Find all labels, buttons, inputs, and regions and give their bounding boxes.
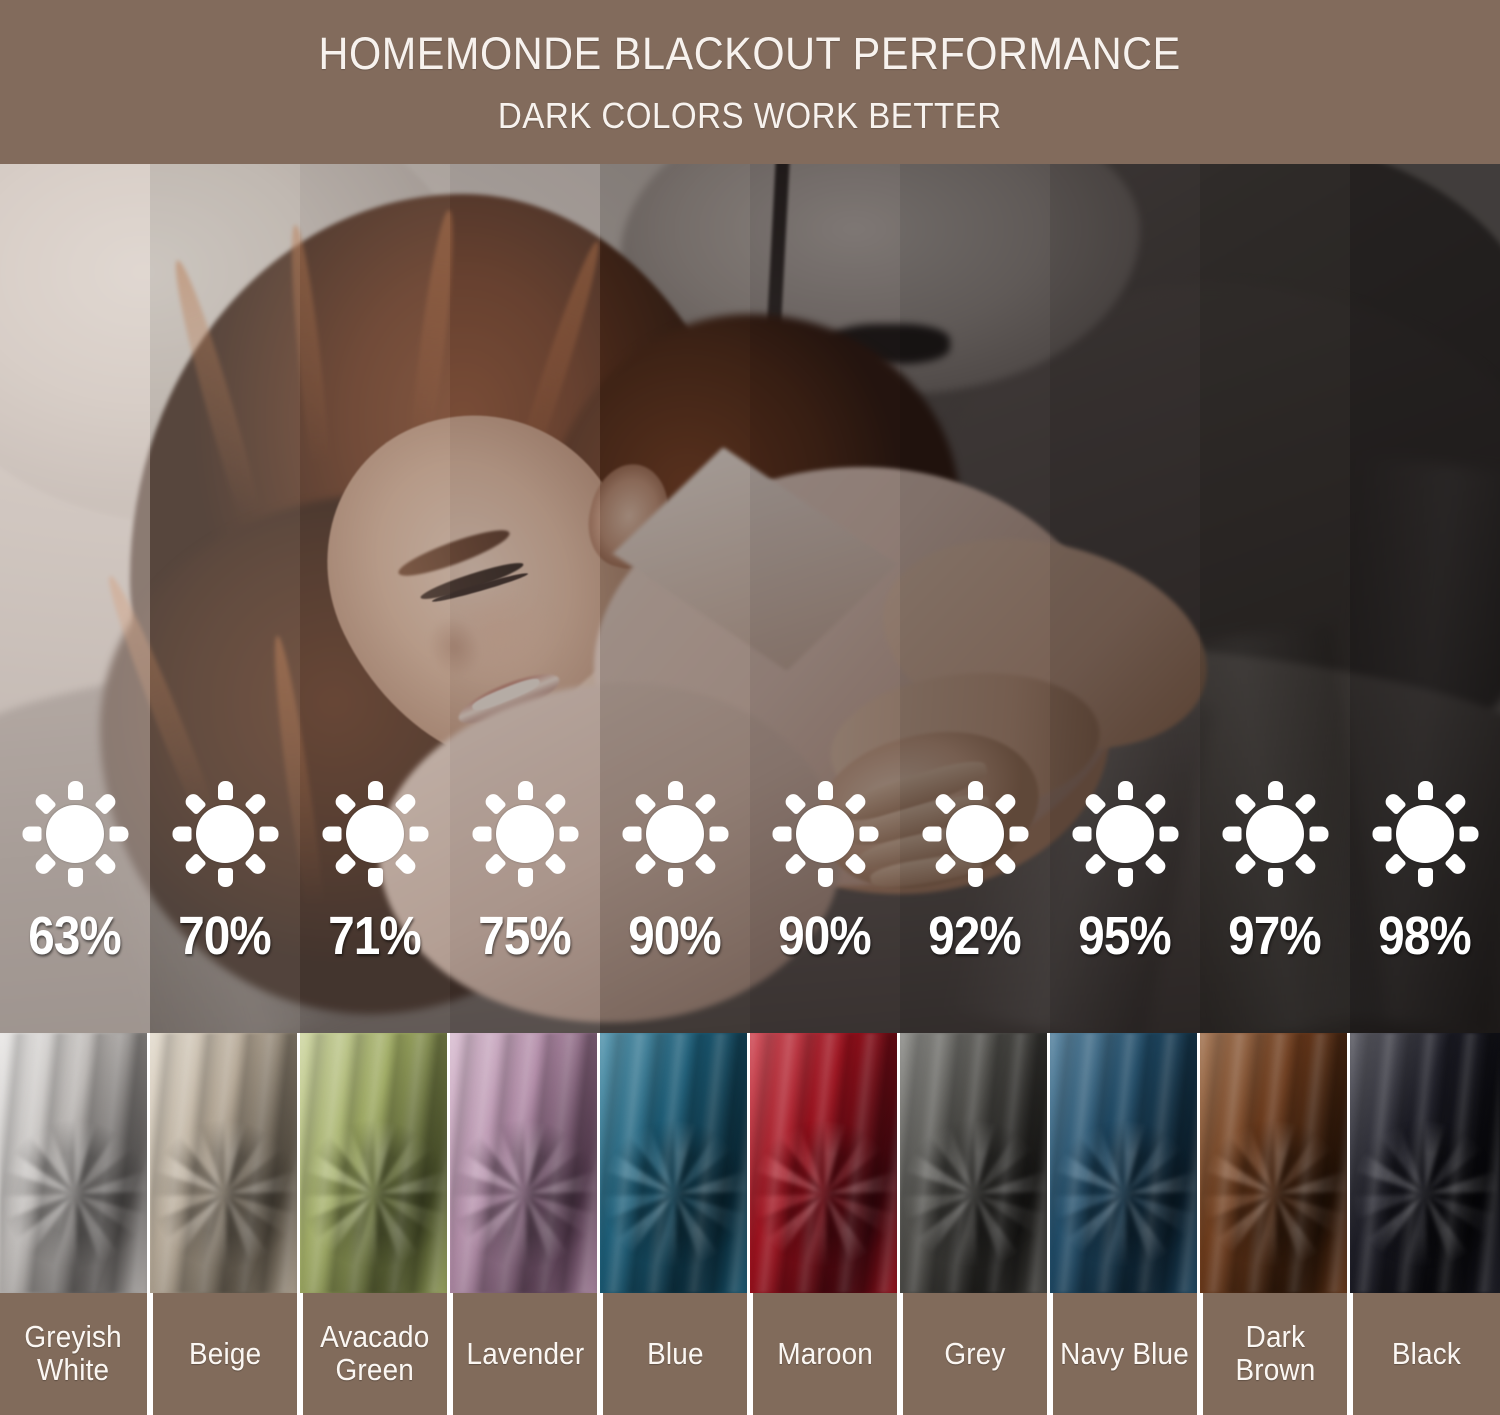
sun-icon — [164, 773, 286, 895]
sun-ray — [518, 781, 533, 800]
sun-ray — [1144, 791, 1168, 815]
sun-ray — [694, 853, 718, 877]
sun-ray — [518, 868, 533, 887]
sun-ray — [1459, 827, 1478, 842]
sun-ray — [218, 868, 233, 887]
sun-ray — [94, 791, 118, 815]
blackout-percent-greyish-white: 63% — [29, 909, 121, 963]
sun-ray — [559, 827, 578, 842]
sun-ray — [332, 853, 356, 877]
sun-ray — [632, 791, 656, 815]
sun-ray — [1418, 868, 1433, 887]
swatch-sheen — [1350, 1033, 1500, 1293]
fabric-swatch-avacado-green — [300, 1033, 450, 1293]
sun-disc — [1396, 805, 1454, 863]
sun-ray — [32, 853, 56, 877]
sun-disc — [1096, 805, 1154, 863]
swatch-sheen — [450, 1033, 600, 1293]
sun-ray — [22, 827, 41, 842]
blackout-percent-black: 98% — [1379, 909, 1471, 963]
sun-ray — [1072, 827, 1091, 842]
sun-ray — [109, 827, 128, 842]
sun-ray — [1444, 791, 1468, 815]
sun-ray — [482, 791, 506, 815]
sun-ray — [1444, 853, 1468, 877]
sun-ray — [1009, 827, 1028, 842]
color-label-navy-blue[interactable]: Navy Blue — [1050, 1293, 1200, 1415]
sun-ray — [544, 791, 568, 815]
sun-ray — [709, 827, 728, 842]
blackout-percent-blue: 90% — [629, 909, 721, 963]
sun-ray — [1382, 791, 1406, 815]
fabric-swatch-row — [0, 1033, 1500, 1293]
sun-icon — [314, 773, 436, 895]
swatch-sheen — [150, 1033, 300, 1293]
sun-icon — [1364, 773, 1486, 895]
fabric-swatch-dark-brown — [1200, 1033, 1350, 1293]
blackout-percent-avacado-green: 71% — [329, 909, 421, 963]
swatch-sheen — [300, 1033, 450, 1293]
sun-ray — [1268, 781, 1283, 800]
color-label-text: Navy Blue — [1061, 1338, 1190, 1371]
sun-icon — [464, 773, 586, 895]
sun-ray — [368, 781, 383, 800]
color-label-blue[interactable]: Blue — [600, 1293, 750, 1415]
sun-icon — [764, 773, 886, 895]
page-title: HOMEMONDE BLACKOUT PERFORMANCE — [319, 31, 1181, 76]
sun-ray — [1309, 827, 1328, 842]
sun-ray — [322, 827, 341, 842]
fabric-swatch-lavender — [450, 1033, 600, 1293]
sun-ray — [1382, 853, 1406, 877]
color-label-text: Maroon — [777, 1338, 873, 1371]
sun-disc — [646, 805, 704, 863]
blackout-percent-lavender: 75% — [479, 909, 571, 963]
sun-ray — [859, 827, 878, 842]
meter-lavender: 75% — [450, 164, 600, 1033]
meter-greyish-white: 63% — [0, 164, 150, 1033]
sun-ray — [482, 853, 506, 877]
sun-ray — [472, 827, 491, 842]
meter-avacado-green: 71% — [300, 164, 450, 1033]
sun-ray — [844, 791, 868, 815]
color-label-text: Beige — [189, 1338, 261, 1371]
color-label-text: Dark Brown — [1235, 1321, 1315, 1387]
sun-disc — [946, 805, 1004, 863]
blackout-meter-row: 63%70%71%75%90%90%92%95%97%98% — [0, 164, 1500, 1033]
sun-ray — [932, 853, 956, 877]
sun-ray — [844, 853, 868, 877]
sun-ray — [922, 827, 941, 842]
color-label-row: Greyish WhiteBeigeAvacado GreenLavenderB… — [0, 1293, 1500, 1415]
blackout-percent-maroon: 90% — [779, 909, 871, 963]
sun-ray — [968, 868, 983, 887]
sun-disc — [796, 805, 854, 863]
sun-ray — [818, 868, 833, 887]
page-subtitle: DARK COLORS WORK BETTER — [498, 98, 1002, 134]
sun-disc — [196, 805, 254, 863]
sun-ray — [1372, 827, 1391, 842]
sun-ray — [994, 791, 1018, 815]
sun-icon — [914, 773, 1036, 895]
sun-ray — [694, 791, 718, 815]
sun-ray — [368, 868, 383, 887]
sun-ray — [1082, 853, 1106, 877]
sun-ray — [94, 853, 118, 877]
fabric-swatch-beige — [150, 1033, 300, 1293]
sun-ray — [782, 853, 806, 877]
sun-ray — [1144, 853, 1168, 877]
sun-ray — [1232, 791, 1256, 815]
swatch-sheen — [600, 1033, 750, 1293]
sun-ray — [218, 781, 233, 800]
sun-ray — [932, 791, 956, 815]
sun-ray — [1294, 853, 1318, 877]
meter-beige: 70% — [150, 164, 300, 1033]
color-label-text: Grey — [944, 1338, 1005, 1371]
sun-ray — [1418, 781, 1433, 800]
sun-ray — [544, 853, 568, 877]
swatch-sheen — [1200, 1033, 1350, 1293]
fabric-swatch-black — [1350, 1033, 1500, 1293]
color-label-greyish-white[interactable]: Greyish White — [0, 1293, 150, 1415]
color-label-text: Avacado Green — [320, 1321, 429, 1387]
sun-ray — [68, 868, 83, 887]
sun-ray — [1118, 781, 1133, 800]
sun-ray — [1294, 791, 1318, 815]
sun-ray — [622, 827, 641, 842]
sun-ray — [394, 791, 418, 815]
sun-ray — [772, 827, 791, 842]
color-label-beige[interactable]: Beige — [150, 1293, 300, 1415]
color-label-avacado-green[interactable]: Avacado Green — [300, 1293, 450, 1415]
infographic-root: HOMEMONDE BLACKOUT PERFORMANCE DARK COLO… — [0, 0, 1500, 1415]
color-label-grey[interactable]: Grey — [900, 1293, 1050, 1415]
color-label-lavender[interactable]: Lavender — [450, 1293, 600, 1415]
sun-ray — [172, 827, 191, 842]
color-label-maroon[interactable]: Maroon — [750, 1293, 900, 1415]
sun-ray — [1082, 791, 1106, 815]
sun-disc — [346, 805, 404, 863]
sun-ray — [332, 791, 356, 815]
sun-ray — [818, 781, 833, 800]
sun-ray — [394, 853, 418, 877]
sun-ray — [668, 868, 683, 887]
sun-ray — [782, 791, 806, 815]
sun-ray — [1232, 853, 1256, 877]
sun-icon — [614, 773, 736, 895]
swatch-sheen — [0, 1033, 150, 1293]
sun-ray — [182, 791, 206, 815]
swatch-sheen — [750, 1033, 900, 1293]
sun-ray — [1159, 827, 1178, 842]
sun-ray — [259, 827, 278, 842]
color-label-text: Greyish White — [25, 1321, 122, 1387]
sun-disc — [46, 805, 104, 863]
sun-ray — [409, 827, 428, 842]
meter-dark-brown: 97% — [1200, 164, 1350, 1033]
color-label-text: Lavender — [466, 1338, 584, 1371]
color-label-dark-brown[interactable]: Dark Brown — [1200, 1293, 1350, 1415]
fabric-swatch-blue — [600, 1033, 750, 1293]
color-label-black[interactable]: Black — [1350, 1293, 1500, 1415]
fabric-swatch-greyish-white — [0, 1033, 150, 1293]
swatch-sheen — [1050, 1033, 1200, 1293]
sun-ray — [632, 853, 656, 877]
header-banner: HOMEMONDE BLACKOUT PERFORMANCE DARK COLO… — [0, 0, 1500, 164]
blackout-percent-grey: 92% — [929, 909, 1021, 963]
sun-ray — [1268, 868, 1283, 887]
meter-grey: 92% — [900, 164, 1050, 1033]
swatch-sheen — [900, 1033, 1050, 1293]
fabric-swatch-maroon — [750, 1033, 900, 1293]
blackout-percent-navy-blue: 95% — [1079, 909, 1171, 963]
meter-black: 98% — [1350, 164, 1500, 1033]
sun-ray — [68, 781, 83, 800]
sun-ray — [994, 853, 1018, 877]
fabric-swatch-navy-blue — [1050, 1033, 1200, 1293]
sun-ray — [32, 791, 56, 815]
sun-disc — [1246, 805, 1304, 863]
meter-blue: 90% — [600, 164, 750, 1033]
sun-ray — [182, 853, 206, 877]
color-label-text: Black — [1392, 1338, 1461, 1371]
blackout-percent-beige: 70% — [179, 909, 271, 963]
hero-photo: 63%70%71%75%90%90%92%95%97%98% — [0, 164, 1500, 1033]
color-label-text: Blue — [647, 1338, 704, 1371]
sun-ray — [244, 853, 268, 877]
sun-icon — [14, 773, 136, 895]
blackout-percent-dark-brown: 97% — [1229, 909, 1321, 963]
sun-ray — [668, 781, 683, 800]
sun-icon — [1214, 773, 1336, 895]
fabric-swatch-grey — [900, 1033, 1050, 1293]
sun-ray — [968, 781, 983, 800]
sun-disc — [496, 805, 554, 863]
meter-navy-blue: 95% — [1050, 164, 1200, 1033]
sun-icon — [1064, 773, 1186, 895]
sun-ray — [1222, 827, 1241, 842]
sun-ray — [1118, 868, 1133, 887]
sun-ray — [244, 791, 268, 815]
meter-maroon: 90% — [750, 164, 900, 1033]
